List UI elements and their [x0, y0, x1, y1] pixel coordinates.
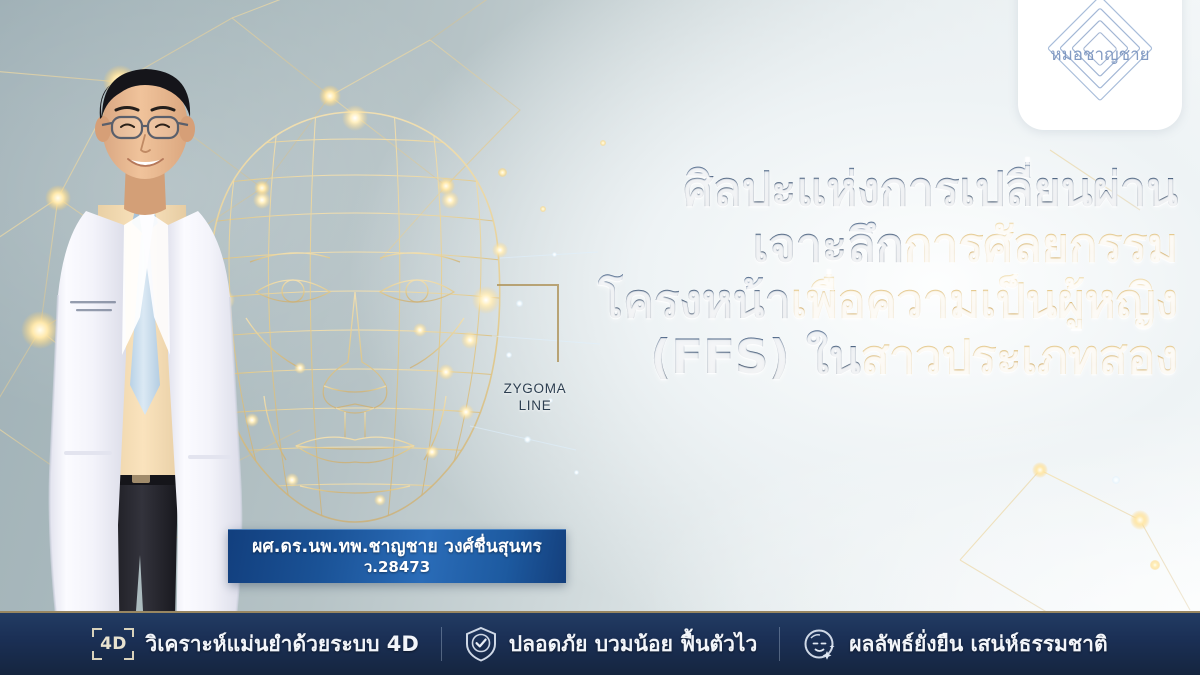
face-sparkle-icon	[802, 625, 838, 663]
feature-text-4d: วิเคราะห์แม่นยำด้วยระบบ 4D	[145, 628, 418, 661]
feature-item-4d[interactable]: 4D วิเคราะห์แม่นยำด้วยระบบ 4D	[70, 628, 440, 661]
zygoma-label-line2: LINE	[489, 397, 581, 414]
headline-line-3-navy: โครงหน้า	[598, 274, 791, 329]
headline-line-2-navy: เจาะลึก	[752, 218, 903, 273]
doctor-license: ว.28473	[364, 558, 430, 577]
feature-text-result: ผลลัพธ์ยั่งยืน เสน่ห์ธรรมชาติ	[849, 628, 1107, 661]
headline-line-4-navy: (FFS) ใน	[650, 330, 861, 385]
headline-line-2-gold: การศัลยกรรม	[904, 218, 1178, 273]
headline-line-2: เจาะลึกการศัลยกรรม	[558, 218, 1178, 274]
headline-block: ศิลปะแห่งการเปลี่ยนผ่าน เจาะลึกการศัลยกร…	[558, 162, 1178, 386]
feature-item-safety[interactable]: ปลอดภัย บวมน้อย ฟื้นตัวไว	[442, 625, 779, 663]
feature-item-result[interactable]: ผลลัพธ์ยั่งยืน เสน่ห์ธรรมชาติ	[780, 625, 1129, 663]
feature-bar: 4D วิเคราะห์แม่นยำด้วยระบบ 4D ปลอดภัย บว…	[0, 611, 1200, 675]
headline-line-3: โครงหน้าเพื่อความเป็นผู้หญิง	[558, 274, 1178, 330]
feature-text-safety: ปลอดภัย บวมน้อย ฟื้นตัวไว	[509, 628, 757, 661]
shield-check-icon	[464, 625, 498, 663]
nested-diamond-icon: หมอชาญชาย	[1025, 0, 1175, 124]
doctor-name-plate: ผศ.ดร.นพ.ทพ.ชาญชาย วงศ์ชื่นสุนทร ว.28473	[228, 529, 566, 583]
callout-bracket-icon	[497, 284, 559, 362]
scan-4d-icon-label: 4D	[100, 634, 127, 654]
scan-4d-icon: 4D	[92, 628, 134, 660]
brand-logo[interactable]: หมอชาญชาย	[1018, 0, 1182, 130]
zygoma-callout: ZYGOMA LINE	[497, 284, 567, 404]
promotional-banner: ZYGOMA LINE ศิลปะแห่งการเปลี่ยนผ่าน เจาะ…	[0, 0, 1200, 675]
logo-text: หมอชาญชาย	[1050, 45, 1149, 65]
headline-line-1: ศิลปะแห่งการเปลี่ยนผ่าน	[558, 162, 1178, 218]
headline-line-4: (FFS) ในสาวประเภทสอง	[558, 330, 1178, 386]
headline-line-4-gold: สาวประเภทสอง	[861, 330, 1178, 385]
headline-line-1-navy: ศิลปะแห่งการเปลี่ยนผ่าน	[683, 162, 1178, 217]
doctor-name: ผศ.ดร.นพ.ทพ.ชาญชาย วงศ์ชื่นสุนทร	[252, 537, 542, 557]
headline-line-3-gold: เพื่อความเป็นผู้หญิง	[791, 274, 1178, 329]
